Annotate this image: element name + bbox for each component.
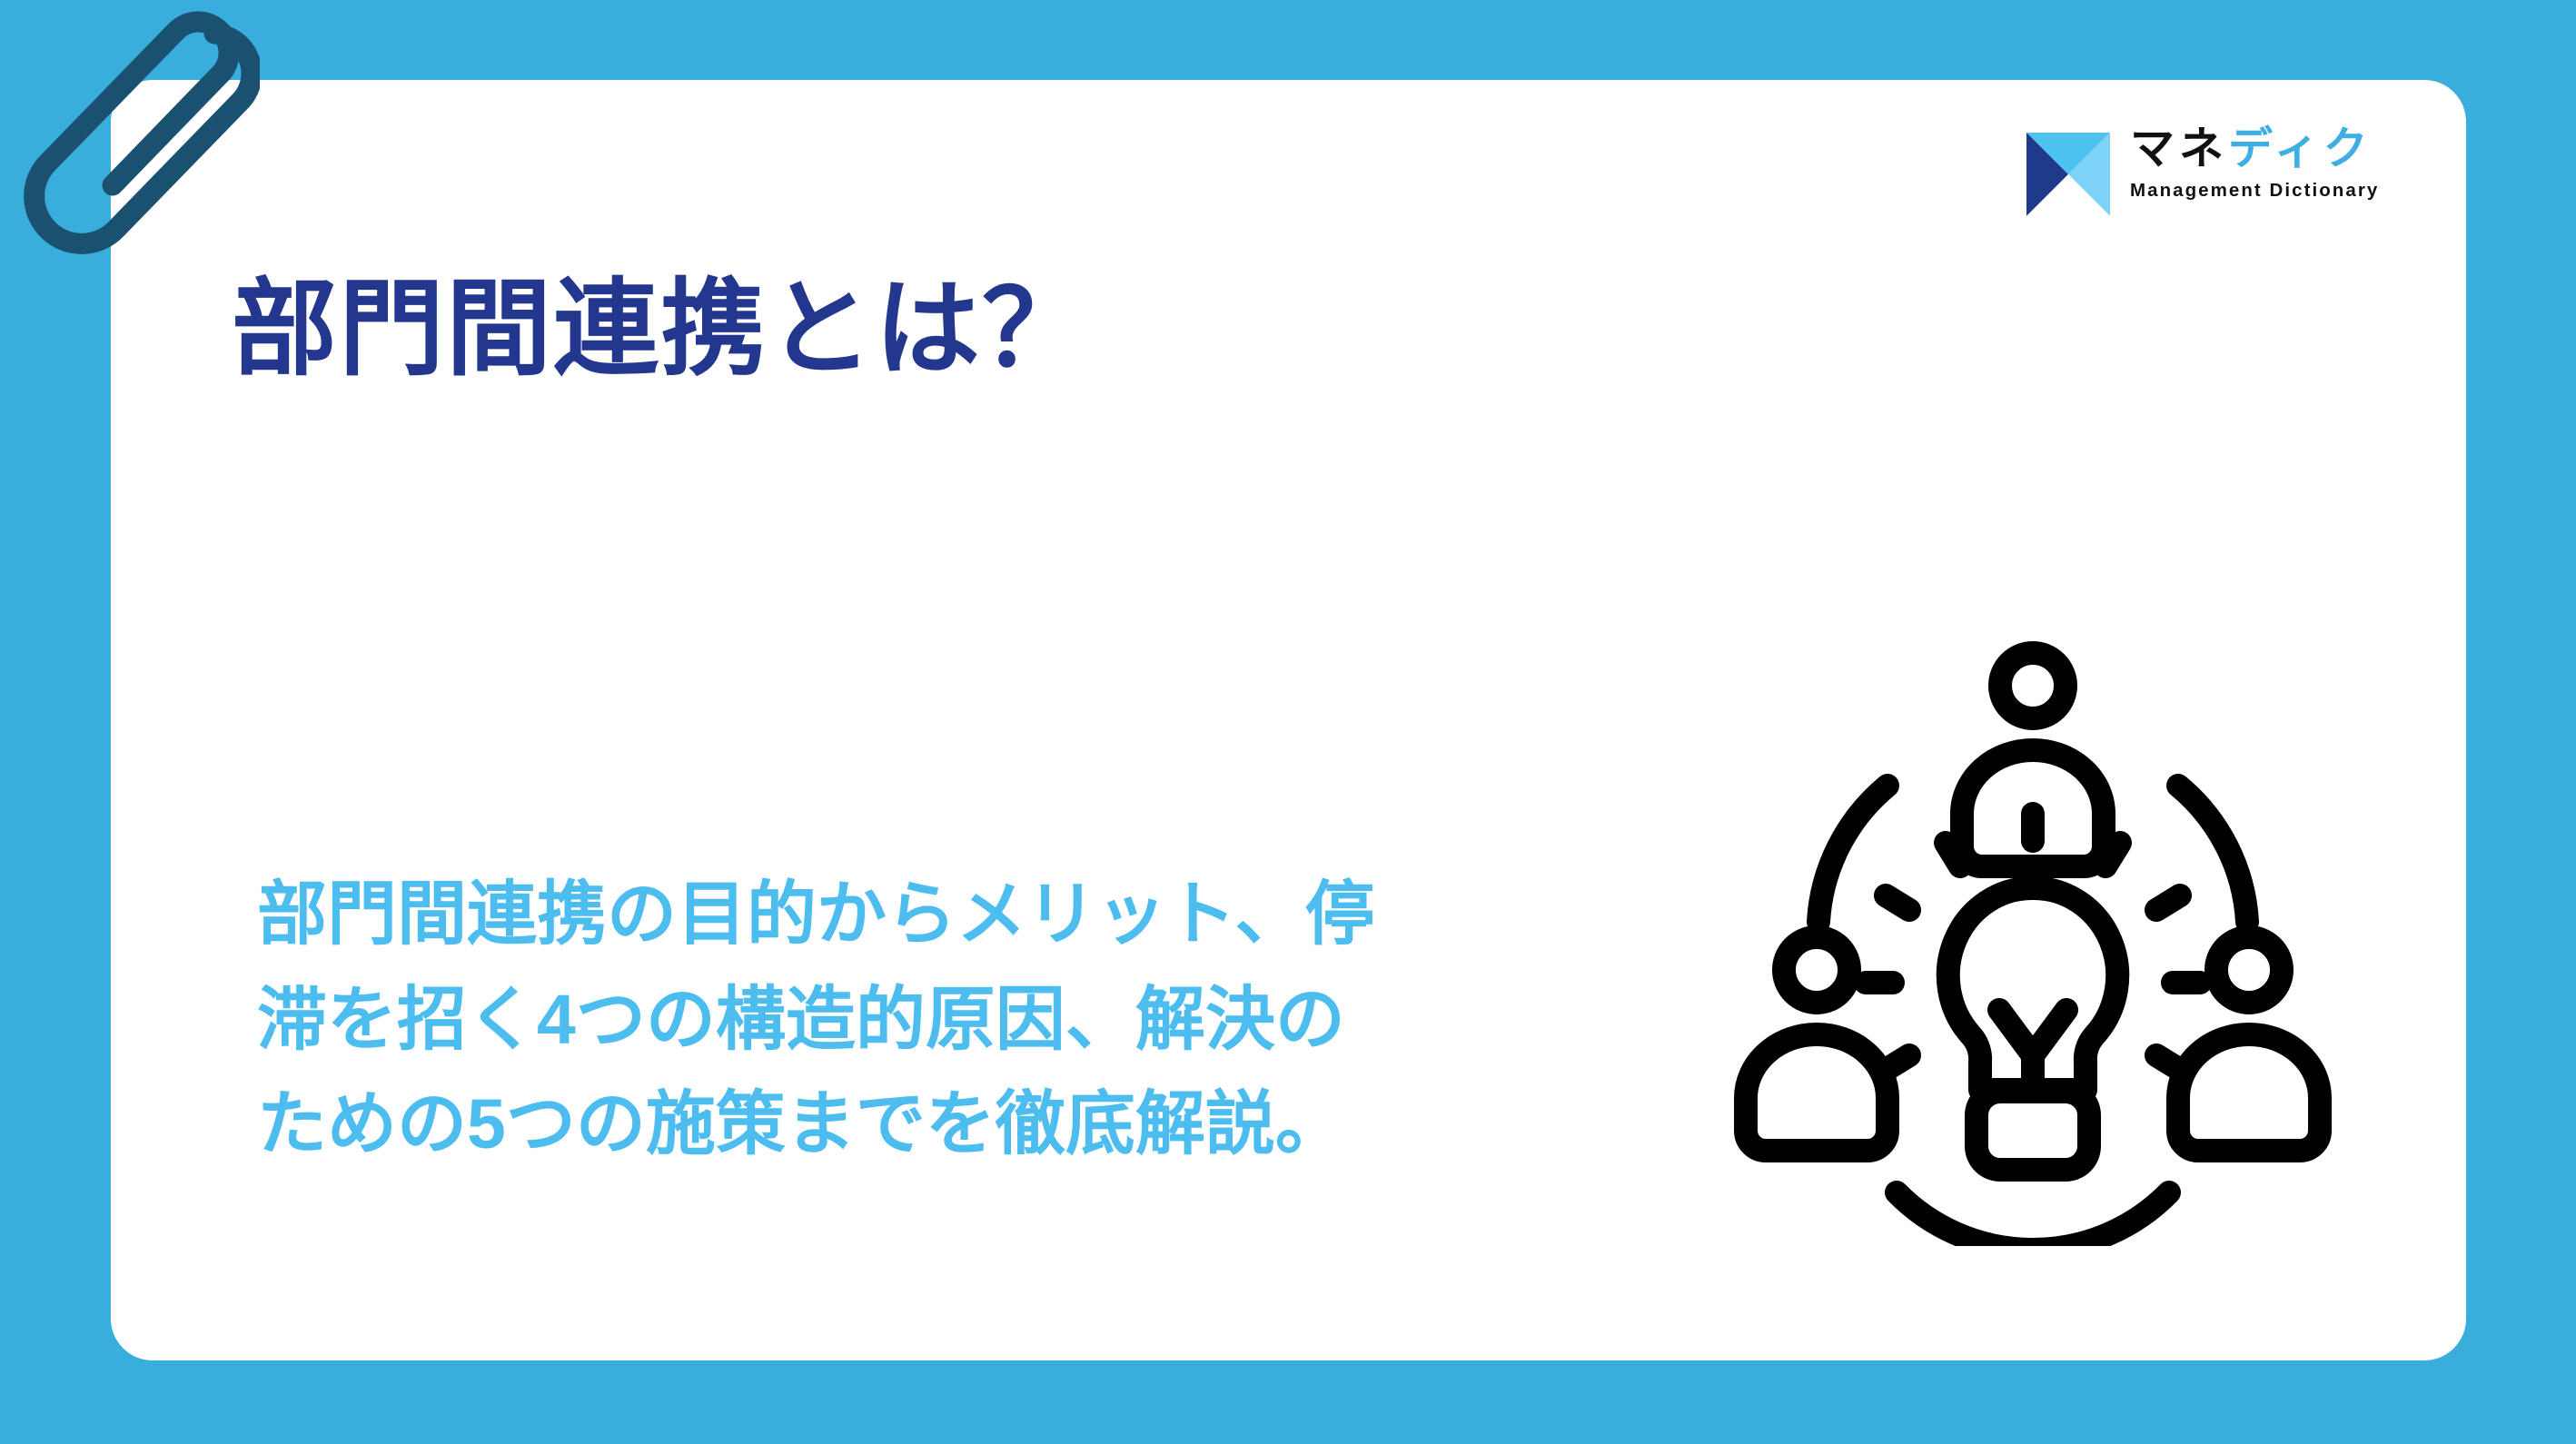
brand-kana-blue: ディク <box>2228 124 2373 173</box>
person-right-body <box>2178 1034 2320 1151</box>
brand-kana-wordmark: マネディク <box>2130 127 2379 172</box>
description-line-2: 滞を招く4つの構造的原因、解決の <box>257 968 1620 1073</box>
ray-lower-left <box>1886 1055 1909 1070</box>
person-left-head <box>1784 937 1849 1003</box>
paperclip-icon <box>16 0 260 258</box>
brand-subtitle: Management Dictionary <box>2130 182 2379 201</box>
ray-upper-right <box>2105 843 2120 866</box>
person-right-head <box>2216 937 2282 1003</box>
person-top-head <box>2000 653 2066 718</box>
brand-logo: マネディク Management Dictionary <box>2026 127 2379 216</box>
ray-upper-left <box>1946 843 1960 866</box>
person-left-body <box>1746 1034 1887 1151</box>
brand-logo-text: マネディク Management Dictionary <box>2130 127 2379 201</box>
arc-bottom <box>1897 1192 2169 1246</box>
ray-lower-right <box>2156 1055 2180 1070</box>
ray-mid-left <box>1886 895 1909 910</box>
brand-logo-mark-icon <box>2026 133 2110 216</box>
brand-kana-dark: マネ <box>2130 124 2228 173</box>
slide-canvas: マネディク Management Dictionary 部門間連携とは？ 部門間… <box>0 0 2576 1444</box>
description-line-3: ための5つの施策までを徹底解説。 <box>257 1073 1620 1178</box>
ray-mid-right <box>2156 895 2180 910</box>
description-line-1: 部門間連携の目的からメリット、停 <box>257 863 1620 968</box>
page-title: 部門間連携とは？ <box>232 265 1089 394</box>
lightbulb-base <box>1977 1092 2089 1170</box>
team-collaboration-idea-icon <box>1715 636 2351 1246</box>
description-text: 部門間連携の目的からメリット、停 滞を招く4つの構造的原因、解決の ための5つの… <box>257 863 1620 1178</box>
